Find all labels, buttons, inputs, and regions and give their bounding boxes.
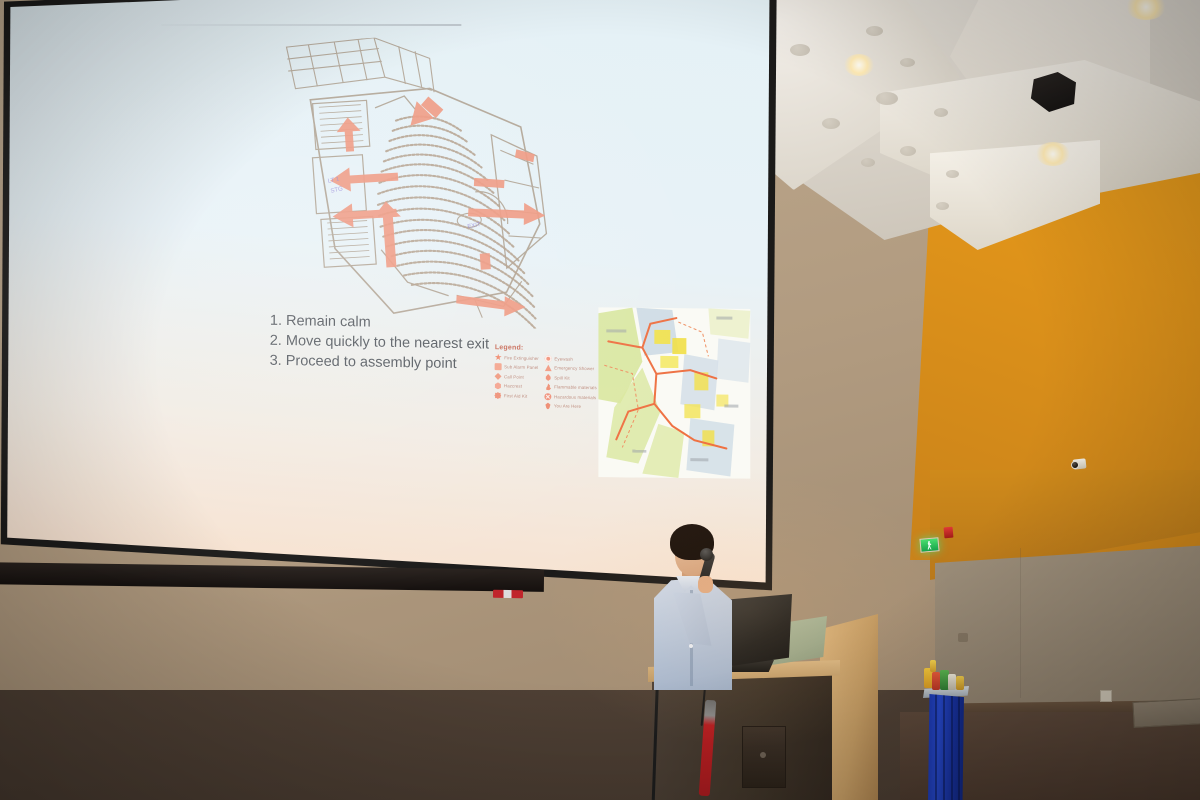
legend-item-label: Hazcrest: [504, 384, 522, 389]
ceiling-downlight: [1036, 142, 1070, 166]
ceiling-recess-dot: [822, 118, 840, 129]
wall-access-panel: [1132, 698, 1200, 728]
legend-item: Flammable materials: [545, 383, 597, 391]
legend-item: Hazcrest: [494, 382, 538, 390]
legend-item: First Aid Kit: [494, 392, 538, 400]
star-icon: [495, 354, 502, 361]
ceiling-recess-dot: [790, 44, 810, 56]
svg-text:EXIT: EXIT: [467, 222, 482, 231]
flower-icon: [494, 392, 501, 399]
right-grey-wall: [935, 545, 1200, 725]
table-item: [956, 676, 964, 690]
svg-text:STG: STG: [330, 186, 344, 194]
triangle-icon: [545, 364, 552, 371]
hazard-x-icon: [544, 393, 551, 400]
legend-item-label: Emergency Shower: [554, 365, 594, 371]
table-item: [930, 660, 936, 672]
legend-column-right: Eyewash Emergency Shower Spill Kit: [544, 355, 597, 411]
screen-brand-badge: [493, 590, 523, 598]
slide-title-underline: [161, 24, 461, 25]
legend-item-label: Eyewash: [554, 356, 573, 361]
legend-item: Sub Alarm Panel: [495, 363, 539, 371]
legend-item: Emergency Shower: [545, 364, 597, 372]
auditorium-floor-plan: LT 1 STG EXIT: [278, 25, 599, 343]
shirt-button: [689, 644, 693, 648]
pin-icon: [544, 403, 551, 410]
presentation-slide: acuation Route: [0, 0, 768, 579]
display-table-skirt: [928, 694, 964, 800]
fire-alarm-box: [944, 527, 954, 539]
presenter: [646, 524, 766, 684]
ceiling-recess-dot: [900, 146, 916, 156]
legend-item: Fire Extinguisher: [495, 354, 539, 362]
legend-item-label: Flammable materials: [554, 385, 597, 391]
ceiling-recess-dot: [946, 170, 959, 178]
ceiling-recess-dot: [934, 108, 948, 117]
exit-sign: [919, 537, 939, 553]
wall-mark: [958, 633, 968, 642]
wall-sensor-lens-icon: [1071, 461, 1079, 469]
ceiling-recess-dot: [876, 92, 898, 105]
ceiling-recess-dot: [936, 202, 949, 210]
wall-seam: [1020, 548, 1021, 698]
campus-site-map: [598, 307, 750, 479]
hexagon-icon: [494, 382, 501, 389]
legend-item: You Are Here: [544, 403, 596, 411]
legend-item: Hazardous materials: [544, 393, 596, 401]
legend-item-label: First Aid Kit: [504, 393, 528, 398]
legend-item: Call Point: [494, 373, 538, 381]
flame-icon: [545, 383, 552, 390]
lecture-hall-scene: acuation Route: [0, 0, 1200, 800]
lectern-lock-icon[interactable]: [760, 752, 766, 758]
legend-item-label: Sub Alarm Panel: [504, 364, 538, 370]
ceiling-downlight: [844, 54, 874, 76]
legend-item-label: Hazardous materials: [554, 394, 596, 400]
ceiling-recess-dot: [900, 58, 915, 67]
table-item: [932, 672, 940, 690]
wall-outlet-plate: [1100, 690, 1112, 702]
legend-item: Eyewash: [545, 355, 597, 363]
running-man-icon: [927, 540, 933, 549]
diamond-icon: [494, 373, 501, 380]
legend-item-label: You Are Here: [554, 404, 581, 410]
square-icon: [495, 363, 502, 370]
eyewash-icon: [545, 355, 552, 362]
presenter-hand: [698, 576, 713, 593]
legend-item-label: Call Point: [504, 374, 524, 379]
ceiling-recess-dot: [866, 26, 883, 36]
legend-item-label: Spill Kit: [554, 375, 570, 380]
legend-column-left: Fire Extinguisher Sub Alarm Panel Call P…: [494, 354, 539, 410]
table-item: [948, 674, 956, 690]
ceiling-recess-dot: [861, 158, 875, 167]
droplet-icon: [545, 374, 552, 381]
legend-item: Spill Kit: [545, 374, 597, 382]
legend-item-label: Fire Extinguisher: [504, 355, 539, 361]
